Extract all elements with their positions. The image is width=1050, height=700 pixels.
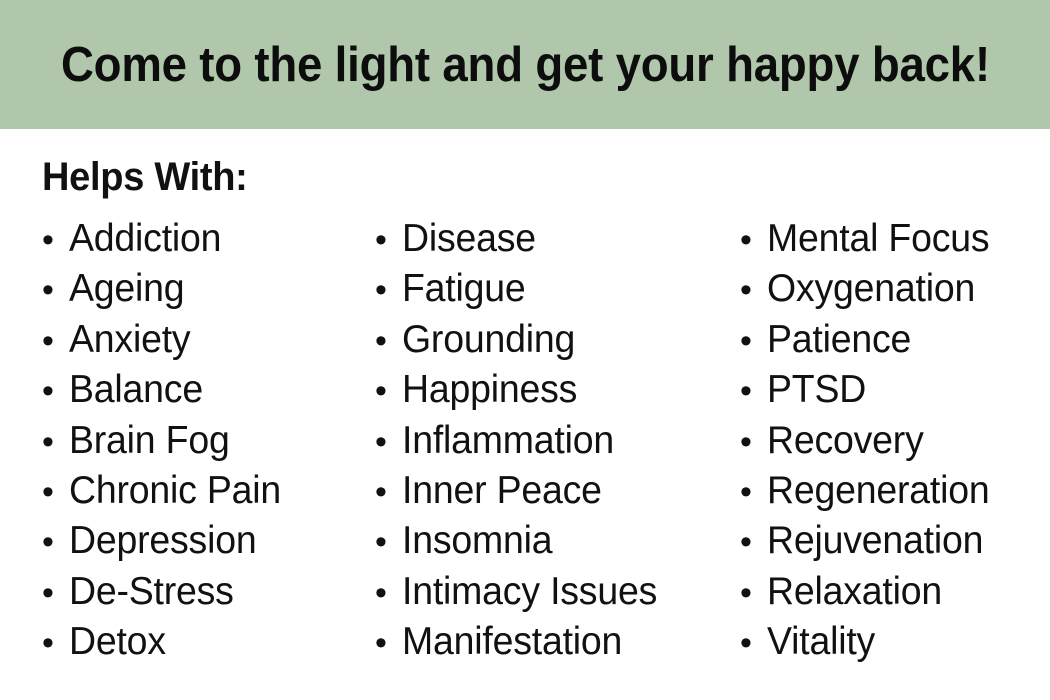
bullet-dot-icon: • — [740, 417, 767, 467]
benefits-section: Helps With: •Addiction•Ageing•Anxiety•Ba… — [0, 129, 1050, 700]
bullet-dot-icon: • — [740, 316, 767, 366]
poster-root: Come to the light and get your happy bac… — [0, 0, 1050, 700]
list-item-label: Brain Fog — [69, 416, 230, 466]
list-item-label: Grounding — [402, 315, 575, 365]
list-item: •Fatigue — [375, 264, 725, 314]
list-item-label: Ageing — [69, 264, 184, 314]
list-item-label: Fatigue — [402, 264, 526, 314]
list-item-label: Disease — [402, 214, 536, 264]
list-item-label: De-Stress — [69, 567, 234, 617]
bullet-dot-icon: • — [740, 517, 767, 567]
list-item-label: PTSD — [767, 365, 866, 415]
list-item: •De-Stress — [42, 567, 362, 617]
bullet-dot-icon: • — [375, 467, 402, 517]
bullet-dot-icon: • — [42, 215, 69, 265]
bullet-dot-icon: • — [42, 265, 69, 315]
list-item: •Balance — [42, 365, 362, 415]
list-item: •Intimacy Issues — [375, 567, 725, 617]
list-item: •Detox — [42, 617, 362, 667]
benefits-column-3: •Mental Focus•Oxygenation•Patience•PTSD•… — [740, 214, 1050, 668]
bullet-dot-icon: • — [375, 517, 402, 567]
list-item: •PTSD — [740, 365, 1050, 415]
bullet-dot-icon: • — [740, 366, 767, 416]
list-item-label: Regeneration — [767, 466, 990, 516]
list-item-label: Depression — [69, 516, 256, 566]
list-item: •Manifestation — [375, 617, 725, 667]
bullet-dot-icon: • — [375, 417, 402, 467]
benefits-list-3: •Mental Focus•Oxygenation•Patience•PTSD•… — [740, 214, 1050, 668]
list-item: •Inflammation — [375, 416, 725, 466]
list-item: •Addiction — [42, 214, 362, 264]
list-item: •Depression — [42, 516, 362, 566]
list-item: •Happiness — [375, 365, 725, 415]
benefits-list-1: •Addiction•Ageing•Anxiety•Balance•Brain … — [42, 214, 362, 668]
list-item-label: Intimacy Issues — [402, 567, 657, 617]
helps-with-heading: Helps With: — [42, 156, 248, 198]
list-item-label: Anxiety — [69, 315, 190, 365]
list-item: •Ageing — [42, 264, 362, 314]
list-item-label: Rejuvenation — [767, 516, 983, 566]
bullet-dot-icon: • — [375, 215, 402, 265]
list-item: •Anxiety — [42, 315, 362, 365]
bullet-dot-icon: • — [42, 517, 69, 567]
list-item: •Rejuvenation — [740, 516, 1050, 566]
benefits-list-2: •Disease•Fatigue•Grounding•Happiness•Inf… — [375, 214, 725, 668]
bullet-dot-icon: • — [740, 265, 767, 315]
bullet-dot-icon: • — [375, 316, 402, 366]
list-item: •Inner Peace — [375, 466, 725, 516]
list-item: •Relaxation — [740, 567, 1050, 617]
list-item: •Regeneration — [740, 466, 1050, 516]
list-item-label: Manifestation — [402, 617, 622, 667]
bullet-dot-icon: • — [740, 618, 767, 668]
page-title: Come to the light and get your happy bac… — [61, 41, 990, 90]
list-item-label: Oxygenation — [767, 264, 975, 314]
bullet-dot-icon: • — [375, 366, 402, 416]
bullet-dot-icon: • — [42, 467, 69, 517]
list-item-label: Addiction — [69, 214, 221, 264]
benefits-column-2: •Disease•Fatigue•Grounding•Happiness•Inf… — [375, 214, 725, 668]
list-item-label: Insomnia — [402, 516, 552, 566]
list-item: •Insomnia — [375, 516, 725, 566]
list-item: •Grounding — [375, 315, 725, 365]
list-item: •Oxygenation — [740, 264, 1050, 314]
bullet-dot-icon: • — [42, 316, 69, 366]
header-banner: Come to the light and get your happy bac… — [0, 0, 1050, 129]
bullet-dot-icon: • — [740, 215, 767, 265]
list-item-label: Happiness — [402, 365, 577, 415]
bullet-dot-icon: • — [375, 568, 402, 618]
bullet-dot-icon: • — [42, 366, 69, 416]
list-item: •Mental Focus — [740, 214, 1050, 264]
bullet-dot-icon: • — [740, 467, 767, 517]
list-item: •Vitality — [740, 617, 1050, 667]
list-item: •Brain Fog — [42, 416, 362, 466]
bullet-dot-icon: • — [375, 265, 402, 315]
list-item-label: Inflammation — [402, 416, 614, 466]
list-item-label: Inner Peace — [402, 466, 602, 516]
bullet-dot-icon: • — [42, 618, 69, 668]
benefits-column-1: •Addiction•Ageing•Anxiety•Balance•Brain … — [42, 214, 362, 668]
bullet-dot-icon: • — [375, 618, 402, 668]
list-item: •Chronic Pain — [42, 466, 362, 516]
list-item: •Disease — [375, 214, 725, 264]
list-item-label: Relaxation — [767, 567, 942, 617]
list-item-label: Vitality — [767, 617, 875, 667]
list-item-label: Chronic Pain — [69, 466, 281, 516]
bullet-dot-icon: • — [42, 568, 69, 618]
list-item-label: Patience — [767, 315, 911, 365]
bullet-dot-icon: • — [42, 417, 69, 467]
list-item-label: Balance — [69, 365, 203, 415]
list-item-label: Detox — [69, 617, 166, 667]
bullet-dot-icon: • — [740, 568, 767, 618]
list-item: •Patience — [740, 315, 1050, 365]
list-item: •Recovery — [740, 416, 1050, 466]
list-item-label: Recovery — [767, 416, 924, 466]
list-item-label: Mental Focus — [767, 214, 989, 264]
